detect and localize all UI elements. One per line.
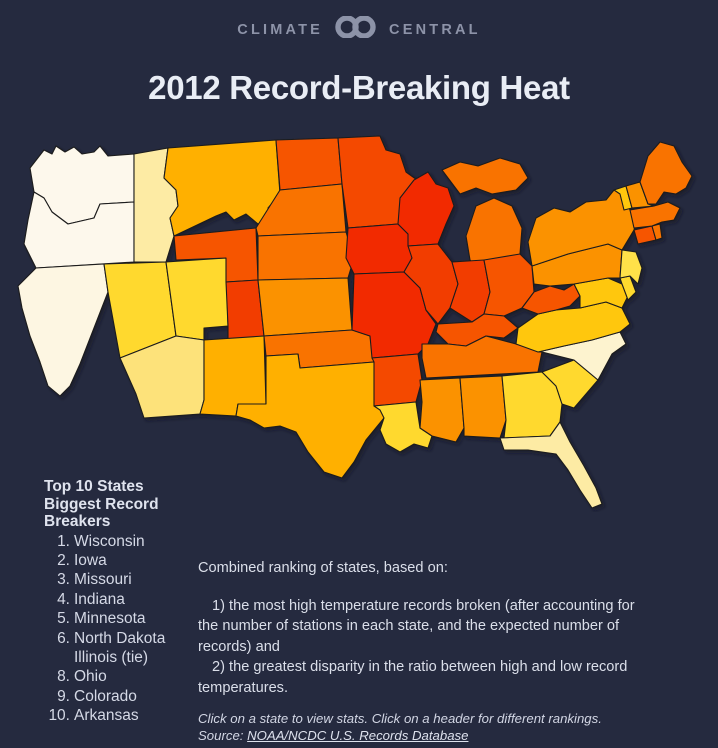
rank-number: 2. xyxy=(44,551,70,570)
top-10-heading-line-2: Biggest Record xyxy=(44,496,204,514)
rank-number xyxy=(44,648,70,667)
rank-number: 1. xyxy=(44,532,70,551)
rank-state-name: Missouri xyxy=(74,570,132,589)
list-item[interactable]: 3. Missouri xyxy=(44,570,204,589)
list-item[interactable]: 2. Iowa xyxy=(44,551,204,570)
list-item[interactable]: Illinois (tie) xyxy=(44,648,204,667)
source-label: Source: xyxy=(198,728,243,743)
rank-state-name: Wisconsin xyxy=(74,532,145,551)
rank-number: 4. xyxy=(44,590,70,609)
state-MS[interactable] xyxy=(420,378,464,442)
rank-number: 6. xyxy=(44,629,70,648)
list-item[interactable]: 1. Wisconsin xyxy=(44,532,204,551)
state-ND[interactable] xyxy=(276,138,342,190)
rank-number: 3. xyxy=(44,570,70,589)
rank-number: 10. xyxy=(44,706,70,725)
rank-state-name: Ohio xyxy=(74,667,107,686)
rank-state-name: Indiana xyxy=(74,590,125,609)
list-item[interactable]: 9. Colorado xyxy=(44,687,204,706)
top-10-heading[interactable]: Top 10 States Biggest Record Breakers xyxy=(44,478,204,531)
state-CA[interactable] xyxy=(18,264,108,396)
footer-instruction: Click on a state to view stats. Click on… xyxy=(198,710,668,727)
list-item[interactable]: 5. Minnesota xyxy=(44,609,204,628)
top-10-list: 1. Wisconsin 2. Iowa 3. Missouri 4. Indi… xyxy=(44,532,204,726)
description-criterion-1: 1) the most high temperature records bro… xyxy=(198,596,646,658)
source-link[interactable]: NOAA/NCDC U.S. Records Database xyxy=(247,728,468,743)
rank-number: 8. xyxy=(44,667,70,686)
rank-state-name: Iowa xyxy=(74,551,107,570)
page-title: 2012 Record-Breaking Heat xyxy=(0,69,718,107)
state-UT[interactable] xyxy=(166,258,228,340)
brand-header: CLIMATE CENTRAL xyxy=(0,16,718,43)
description-lead: Combined ranking of states, based on: xyxy=(198,558,646,579)
description-criterion-2: 2) the greatest disparity in the ratio b… xyxy=(198,657,646,698)
top-10-heading-line-3: Breakers xyxy=(44,513,204,531)
state-ME[interactable] xyxy=(640,142,692,204)
rank-state-name: Colorado xyxy=(74,687,137,706)
infographic-root: CLIMATE CENTRAL 2012 Record-Breaking Hea… xyxy=(0,0,718,748)
state-CO[interactable] xyxy=(226,280,264,340)
state-AL[interactable] xyxy=(460,376,506,438)
brand-word-central: CENTRAL xyxy=(389,22,481,38)
list-item[interactable]: 6. North Dakota xyxy=(44,629,204,648)
footer: Click on a state to view stats. Click on… xyxy=(198,710,668,744)
us-choropleth-map[interactable] xyxy=(8,132,710,512)
state-AR[interactable] xyxy=(372,354,422,406)
list-item[interactable]: 4. Indiana xyxy=(44,590,204,609)
top-10-panel: Top 10 States Biggest Record Breakers 1.… xyxy=(44,478,204,726)
footer-source-line: Source: NOAA/NCDC U.S. Records Database xyxy=(198,727,668,744)
state-KS[interactable] xyxy=(258,278,352,336)
brand-word-climate: CLIMATE xyxy=(237,22,323,38)
rank-state-name: Arkansas xyxy=(74,706,139,725)
rank-number: 9. xyxy=(44,687,70,706)
rank-state-name: Illinois (tie) xyxy=(74,648,148,667)
rank-state-name: Minnesota xyxy=(74,609,146,628)
rank-number: 5. xyxy=(44,609,70,628)
state-shapes-group xyxy=(18,136,692,508)
state-NE[interactable] xyxy=(258,232,354,280)
methodology-description: Combined ranking of states, based on: 1)… xyxy=(198,558,646,698)
list-item[interactable]: 8. Ohio xyxy=(44,667,204,686)
state-IA[interactable] xyxy=(346,224,412,274)
infinity-rings-logo-icon xyxy=(334,16,378,43)
list-item[interactable]: 10. Arkansas xyxy=(44,706,204,725)
rank-state-name: North Dakota xyxy=(74,629,165,648)
top-10-heading-line-1: Top 10 States xyxy=(44,478,204,496)
